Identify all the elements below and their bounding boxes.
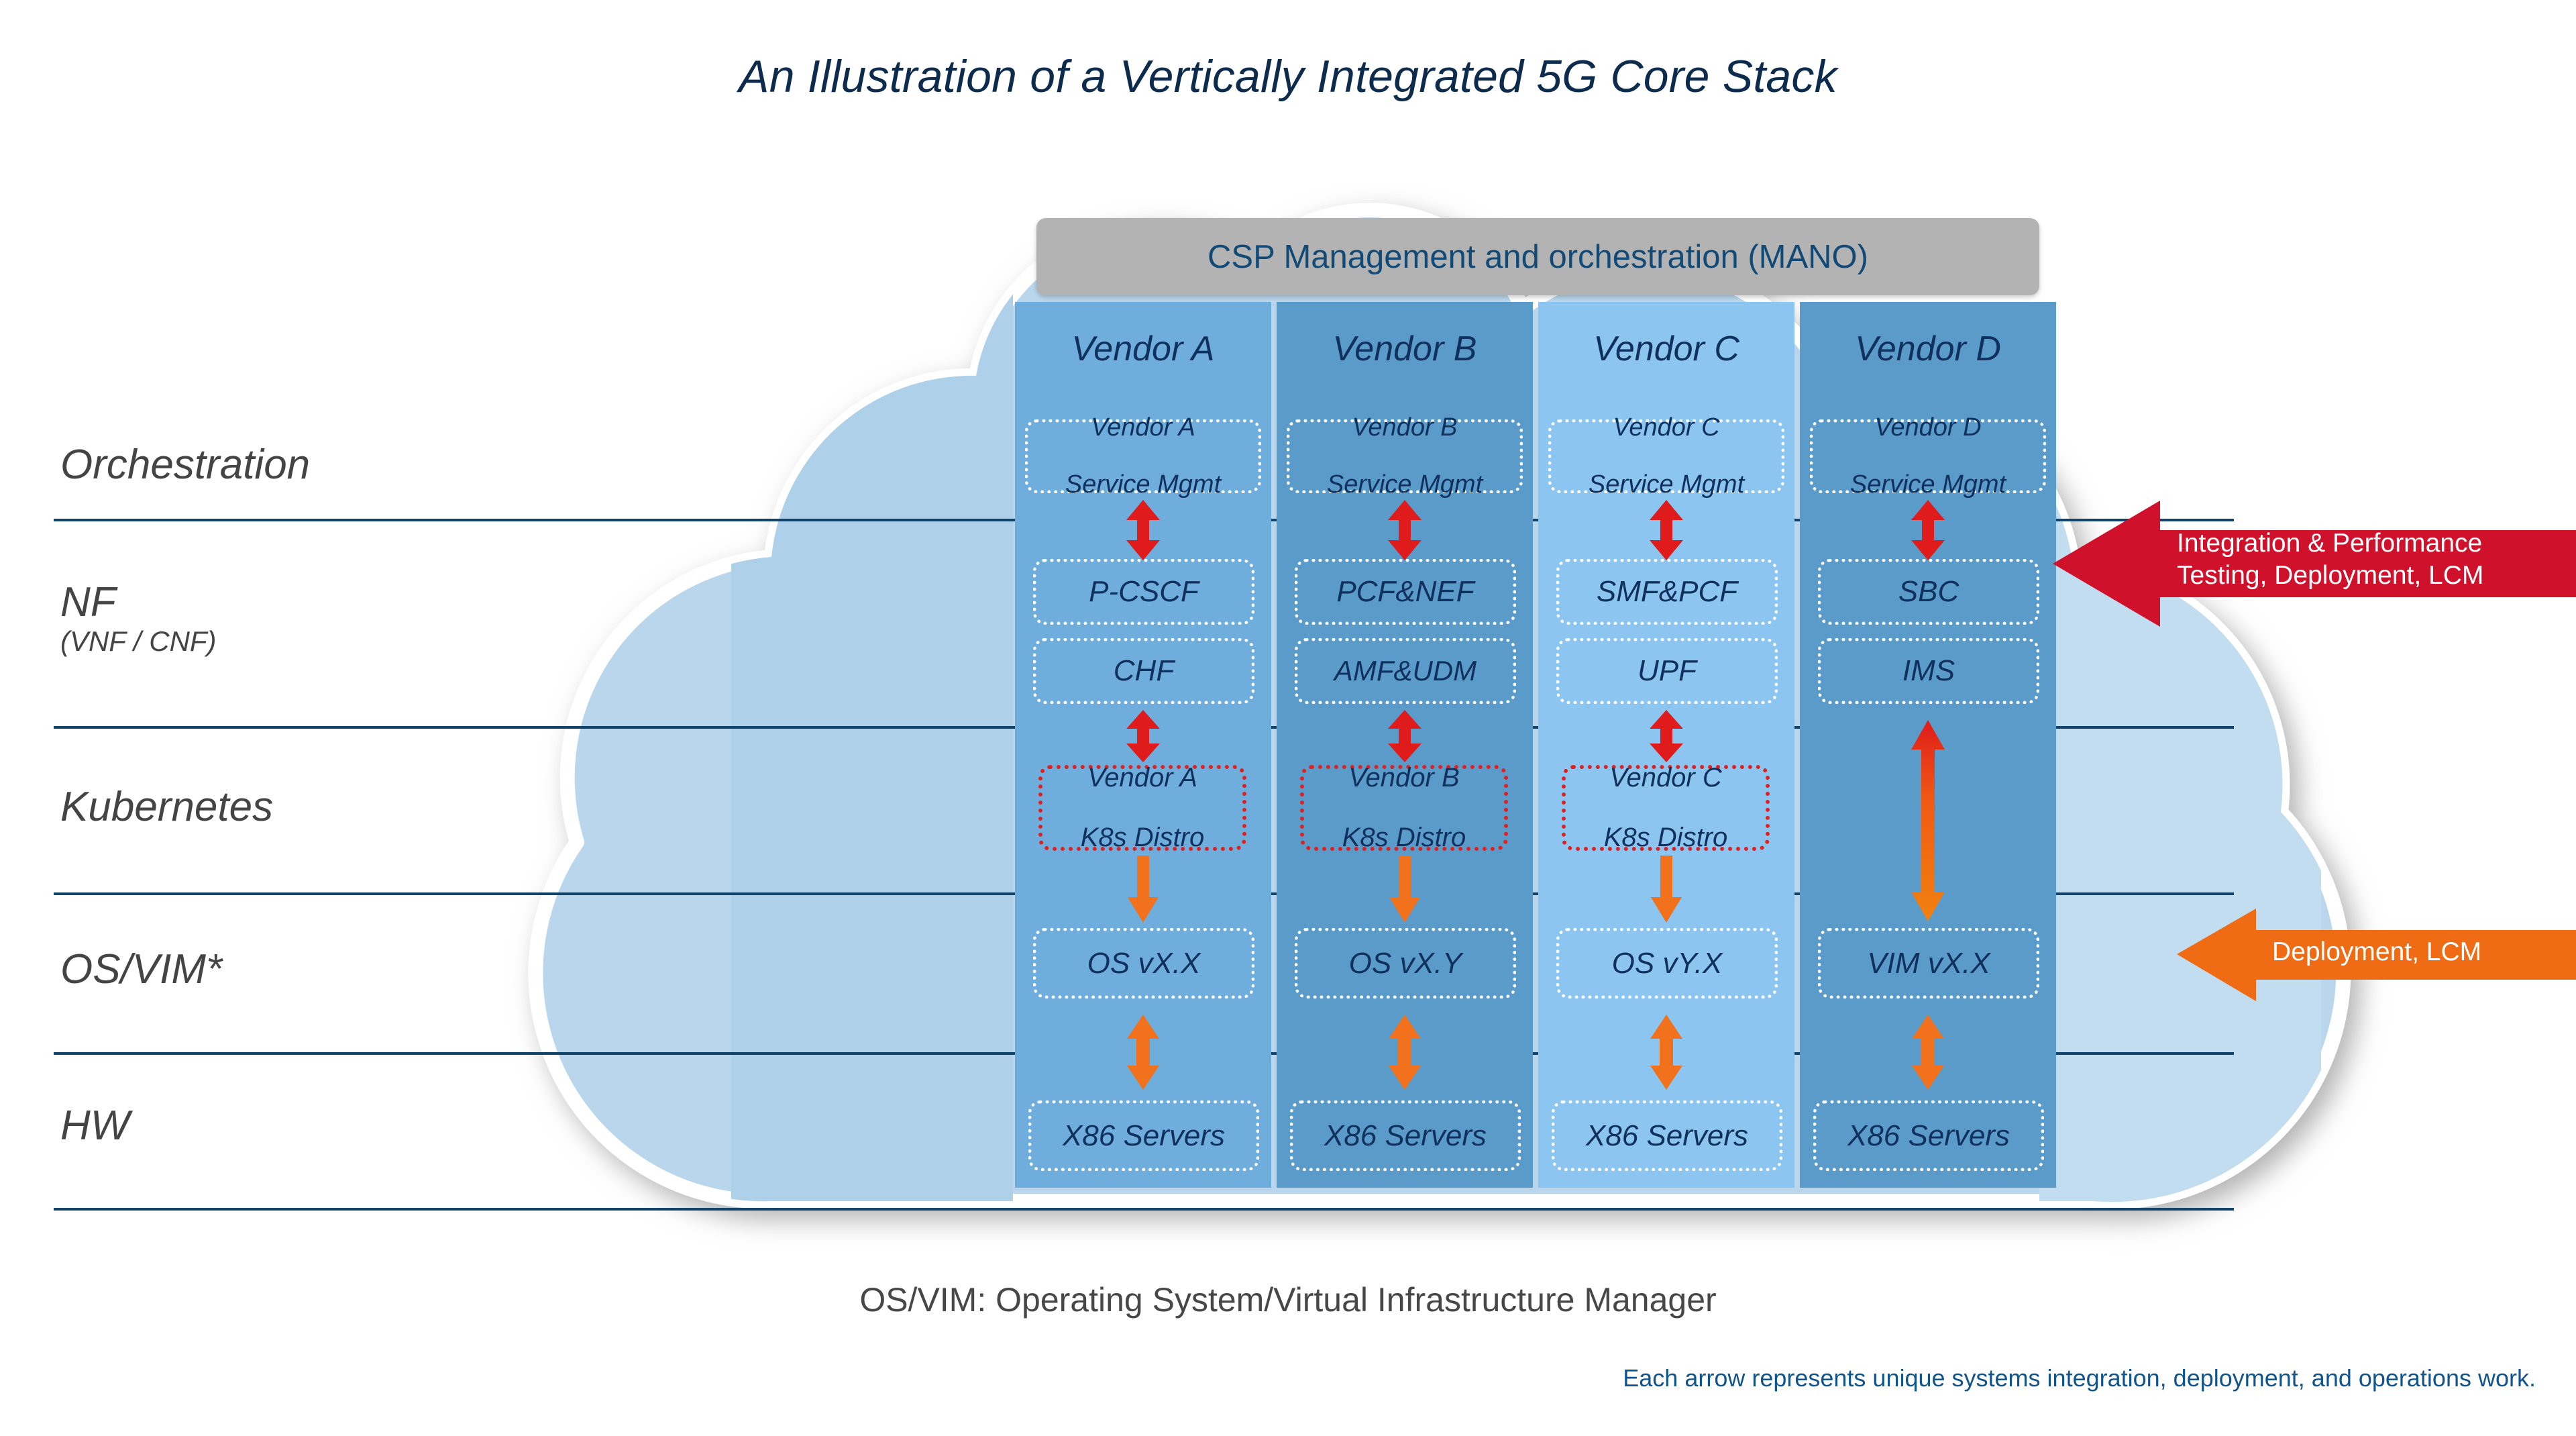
osvim-box-c[interactable]: OS vY.X [1556,928,1778,998]
nf-bottom-box-b[interactable]: AMF&UDM [1295,638,1516,704]
nf-bottom-box-d[interactable]: IMS [1818,638,2039,704]
osvim-box-a-label: OS vX.X [1083,947,1205,980]
arrow-red-orch-nf-d [1910,500,1946,560]
nf-top-box-d[interactable]: SBC [1818,559,2039,625]
nf-top-box-c-label: SMF&PCF [1593,575,1741,608]
footnote-arrow-legend: Each arrow represents unique systems int… [1623,1364,2536,1392]
vendor-header-a-label: Vendor A [1072,329,1215,369]
kubernetes-box-c-line1: Vendor C [1600,763,1732,793]
orchestration-box-d-line2: Service Mgmt [1846,470,2010,499]
hw-box-c-label: X86 Servers [1582,1119,1752,1152]
page-title: An Illustration of a Vertically Integrat… [0,50,2576,103]
osvim-box-b[interactable]: OS vX.Y [1295,928,1516,998]
nf-bottom-box-d-label: IMS [1898,654,1959,687]
arrow-red-nf-k8s-c [1648,710,1684,762]
row-label-hw: HW [60,1104,129,1147]
orchestration-box-b-line1: Vendor B [1323,413,1487,442]
kubernetes-box-a-line1: Vendor A [1077,763,1209,793]
orchestration-box-b[interactable]: Vendor BService Mgmt [1287,419,1523,493]
nf-bottom-box-c[interactable]: UPF [1556,638,1778,704]
arrow-orange-osvim-hw-a [1125,1015,1161,1090]
mano-bar: CSP Management and orchestration (MANO) [1036,218,2039,295]
arrow-orange-osvim-hw-c [1648,1015,1684,1090]
kubernetes-box-b-line1: Vendor B [1338,763,1470,793]
row-label-nf-sub: (VNF / CNF) [60,627,217,656]
callout-deployment-lcm[interactable]: Deployment, LCM [2177,905,2576,1005]
orchestration-box-b-line2: Service Mgmt [1323,470,1487,499]
orchestration-box-a[interactable]: Vendor AService Mgmt [1025,419,1261,493]
arrow-orange-k8s-osvim-a [1126,856,1160,923]
row-label-osvim: OS/VIM* [60,947,222,991]
vendor-header-c: Vendor C [1538,322,1794,376]
kubernetes-box-a[interactable]: Vendor AK8s Distro [1038,765,1246,851]
callout-red-line2: Testing, Deployment, LCM [2177,560,2566,592]
nf-top-box-d-label: SBC [1894,575,1963,608]
arrow-red-orch-nf-a [1125,500,1161,560]
hw-box-b[interactable]: X86 Servers [1290,1100,1521,1171]
callout-integration-testing[interactable]: Integration & Performance Testing, Deplo… [2053,495,2576,633]
row-label-orchestration: Orchestration [60,443,310,486]
callout-red-line1: Integration & Performance [2177,527,2566,560]
osvim-box-b-label: OS vX.Y [1345,947,1466,980]
orchestration-box-c-line1: Vendor C [1585,413,1748,442]
vendor-header-d-label: Vendor D [1855,329,2001,369]
hw-box-a[interactable]: X86 Servers [1028,1100,1259,1171]
nf-bottom-box-b-label: AMF&UDM [1330,655,1481,686]
callout-orange-line1: Deployment, LCM [2272,937,2561,968]
row-label-nf: NF (VNF / CNF) [60,580,217,656]
osvim-box-d-label: VIM vX.X [1863,947,1994,980]
nf-bottom-box-a[interactable]: CHF [1033,638,1254,704]
row-label-hw-text: HW [60,1104,129,1147]
vendor-header-c-label: Vendor C [1593,329,1739,369]
arrow-orange-osvim-hw-d [1910,1015,1946,1090]
arrow-red-nf-k8s-b [1387,710,1423,762]
nf-top-box-b[interactable]: PCF&NEF [1295,559,1516,625]
arrow-red-orch-nf-c [1648,500,1684,560]
row-label-orchestration-text: Orchestration [60,443,310,486]
kubernetes-box-c[interactable]: Vendor CK8s Distro [1562,765,1770,851]
vendor-header-d: Vendor D [1800,322,2056,376]
arrow-red-nf-k8s-a [1125,710,1161,762]
kubernetes-box-b[interactable]: Vendor BK8s Distro [1300,765,1508,851]
osvim-box-a[interactable]: OS vX.X [1033,928,1254,998]
row-label-kubernetes: Kubernetes [60,785,273,829]
kubernetes-box-b-line2: K8s Distro [1338,823,1470,853]
hw-box-d[interactable]: X86 Servers [1813,1100,2044,1171]
orchestration-box-c[interactable]: Vendor CService Mgmt [1548,419,1784,493]
hw-box-a-label: X86 Servers [1059,1119,1229,1152]
orchestration-box-a-line1: Vendor A [1061,413,1225,442]
kubernetes-box-a-line2: K8s Distro [1077,823,1209,853]
row-label-nf-text: NF [60,580,217,624]
arrow-red-orch-nf-b [1387,500,1423,560]
nf-top-box-c[interactable]: SMF&PCF [1556,559,1778,625]
osvim-box-c-label: OS vY.X [1608,947,1727,980]
orchestration-box-a-line2: Service Mgmt [1061,470,1225,499]
nf-top-box-a-label: P-CSCF [1085,575,1203,608]
nf-top-box-a[interactable]: P-CSCF [1033,559,1254,625]
row-label-kubernetes-text: Kubernetes [60,785,273,829]
vendor-header-b-label: Vendor B [1333,329,1477,369]
hw-box-d-label: X86 Servers [1843,1119,2014,1152]
nf-top-box-b-label: PCF&NEF [1332,575,1478,608]
arrow-orange-k8s-osvim-c [1650,856,1683,923]
divider-hw-bottom [54,1208,2234,1211]
footnote-osvim-legend: OS/VIM: Operating System/Virtual Infrast… [0,1280,2576,1319]
arrow-long-gradient-d [1909,720,1947,921]
osvim-box-d[interactable]: VIM vX.X [1818,928,2039,998]
nf-bottom-box-a-label: CHF [1110,654,1178,687]
row-label-osvim-text: OS/VIM* [60,947,222,991]
hw-box-c[interactable]: X86 Servers [1552,1100,1782,1171]
arrow-orange-osvim-hw-b [1387,1015,1423,1090]
orchestration-box-c-line2: Service Mgmt [1585,470,1748,499]
orchestration-box-d[interactable]: Vendor DService Mgmt [1810,419,2046,493]
vendor-header-b: Vendor B [1277,322,1533,376]
nf-bottom-box-c-label: UPF [1633,654,1701,687]
kubernetes-box-c-line2: K8s Distro [1600,823,1732,853]
orchestration-box-d-line1: Vendor D [1846,413,2010,442]
hw-box-b-label: X86 Servers [1320,1119,1491,1152]
arrow-orange-k8s-osvim-b [1388,856,1421,923]
vendor-header-a: Vendor A [1015,322,1271,376]
mano-label: CSP Management and orchestration (MANO) [1207,238,1868,276]
